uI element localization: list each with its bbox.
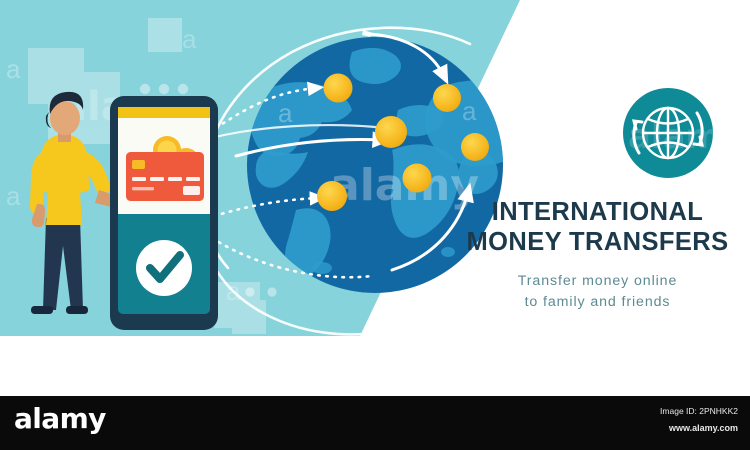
image-id: Image ID: 2PNHKK2: [660, 404, 738, 420]
svg-text:a: a: [462, 96, 477, 126]
card-logo-block: [183, 186, 200, 195]
payment-success-check-icon: [136, 240, 192, 296]
svg-text:a: a: [182, 24, 197, 54]
svg-text:a: a: [6, 54, 21, 84]
coin-marker: [433, 84, 461, 112]
badge-watermark: alamy: [628, 117, 743, 157]
alamy-website-link[interactable]: www.alamy.com: [660, 420, 738, 437]
svg-text:a: a: [278, 98, 293, 128]
coin-marker: [324, 74, 353, 103]
alamy-stock-image-preview: a a a alamy a: [0, 0, 750, 450]
coin-marker: [403, 164, 432, 193]
person-shoe-left: [31, 306, 53, 314]
svg-text:alamy: alamy: [330, 160, 479, 211]
alamy-watermark-bar: alamy Image ID: 2PNHKK2 www.alamy.com: [0, 396, 750, 450]
illustration-canvas: a a a alamy a: [0, 0, 750, 396]
image-meta: Image ID: 2PNHKK2 www.alamy.com: [660, 404, 738, 436]
international-money-transfer-illustration: a a a alamy a: [0, 0, 750, 396]
coin-marker: [375, 116, 407, 148]
coin-marker: [461, 133, 489, 161]
card-chip: [132, 160, 145, 169]
coin-marker: [317, 181, 347, 211]
alamy-logo[interactable]: alamy: [14, 405, 106, 433]
person-shoe-right: [66, 306, 88, 314]
smartphone-payment-icon[interactable]: [110, 96, 218, 330]
credit-card-icon: [126, 152, 204, 201]
phone-status-bar: [118, 107, 210, 118]
svg-text:a: a: [6, 181, 21, 211]
